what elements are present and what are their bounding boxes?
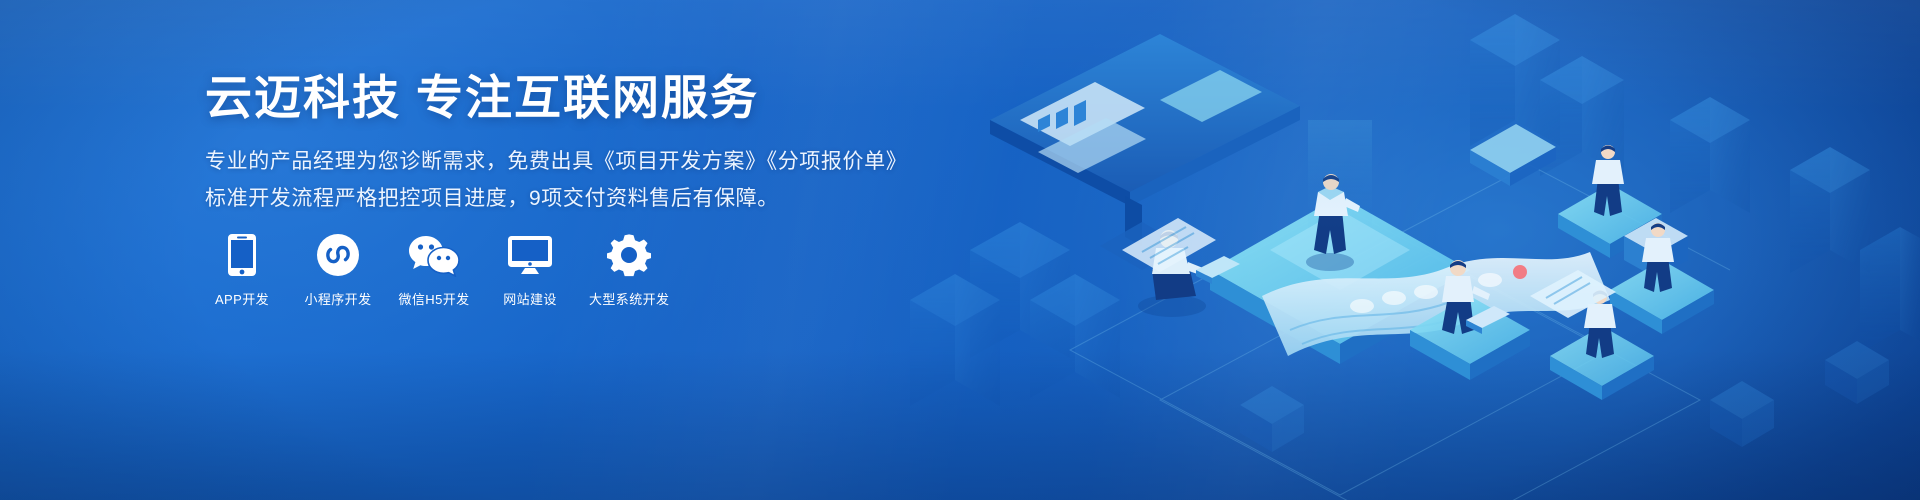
service-item-app[interactable]: APP开发 <box>205 232 279 308</box>
subtitle-line-2: 标准开发流程严格把控项目进度，9项交付资料售后有保障。 <box>205 183 779 216</box>
service-label: 网站建设 <box>503 289 557 308</box>
page-title: 云迈科技 专注互联网服务 <box>205 72 759 124</box>
service-item-mini-program[interactable]: 小程序开发 <box>301 232 375 308</box>
mobile-phone-icon <box>227 232 257 278</box>
service-item-website[interactable]: 网站建设 <box>493 232 567 308</box>
service-label: 大型系统开发 <box>589 289 669 308</box>
mini-program-icon <box>316 232 360 278</box>
service-item-large-system[interactable]: 大型系统开发 <box>589 232 669 308</box>
gear-icon <box>607 232 651 278</box>
service-item-wechat[interactable]: 微信H5开发 <box>397 232 471 308</box>
service-list: APP开发 小程序开发 <box>205 232 691 308</box>
isometric-illustration <box>910 0 1920 500</box>
wechat-icon <box>408 232 460 278</box>
service-label: APP开发 <box>215 289 269 308</box>
monitor-icon <box>507 232 553 278</box>
banner-content: 云迈科技 专注互联网服务 专业的产品经理为您诊断需求，免费出具《项目开发方案》《… <box>205 0 965 500</box>
subtitle-line-1: 专业的产品经理为您诊断需求，免费出具《项目开发方案》《分项报价单》 <box>205 146 907 179</box>
service-label: 小程序开发 <box>304 289 371 308</box>
hero-banner: 云迈科技 专注互联网服务 专业的产品经理为您诊断需求，免费出具《项目开发方案》《… <box>0 0 1920 500</box>
service-label: 微信H5开发 <box>398 289 469 308</box>
